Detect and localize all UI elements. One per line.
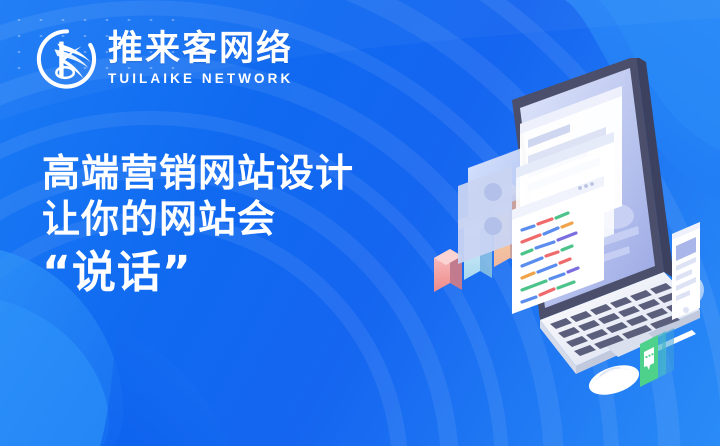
smartphone — [672, 222, 700, 320]
logo-english-name: TUILAIKE NETWORK — [108, 71, 293, 86]
marketing-banner: 推来客网络 TUILAIKE NETWORK 高端营销网站设计 让你的网站会 “… — [0, 0, 720, 446]
wave-center-bottom — [100, 330, 230, 446]
headline-line-3: “说话” — [42, 245, 354, 301]
code-window-dot-3 — [578, 186, 582, 190]
illustration-svg — [400, 58, 720, 446]
side-card-icon-1 — [484, 183, 502, 201]
tuilaike-k-monogram-icon — [36, 28, 98, 90]
code-window-dot-1 — [590, 182, 594, 186]
logo-text-block: 推来客网络 TUILAIKE NETWORK — [108, 32, 293, 86]
phone-home-button — [683, 307, 689, 313]
side-card-icon-2 — [484, 217, 502, 235]
headline-line-1: 高端营销网站设计 — [42, 150, 354, 196]
brand-logo: 推来客网络 TUILAIKE NETWORK — [36, 28, 293, 90]
headline-line-2: 让你的网站会 — [42, 196, 354, 242]
isometric-laptop-illustration — [400, 58, 720, 446]
code-window-dot-2 — [584, 184, 588, 188]
wave-bottom-left-2 — [0, 300, 109, 446]
headline-block: 高端营销网站设计 让你的网站会 “说话” — [42, 150, 354, 301]
logo-chinese-name: 推来客网络 — [108, 32, 293, 67]
bar-chart-bar-1 — [434, 249, 462, 292]
